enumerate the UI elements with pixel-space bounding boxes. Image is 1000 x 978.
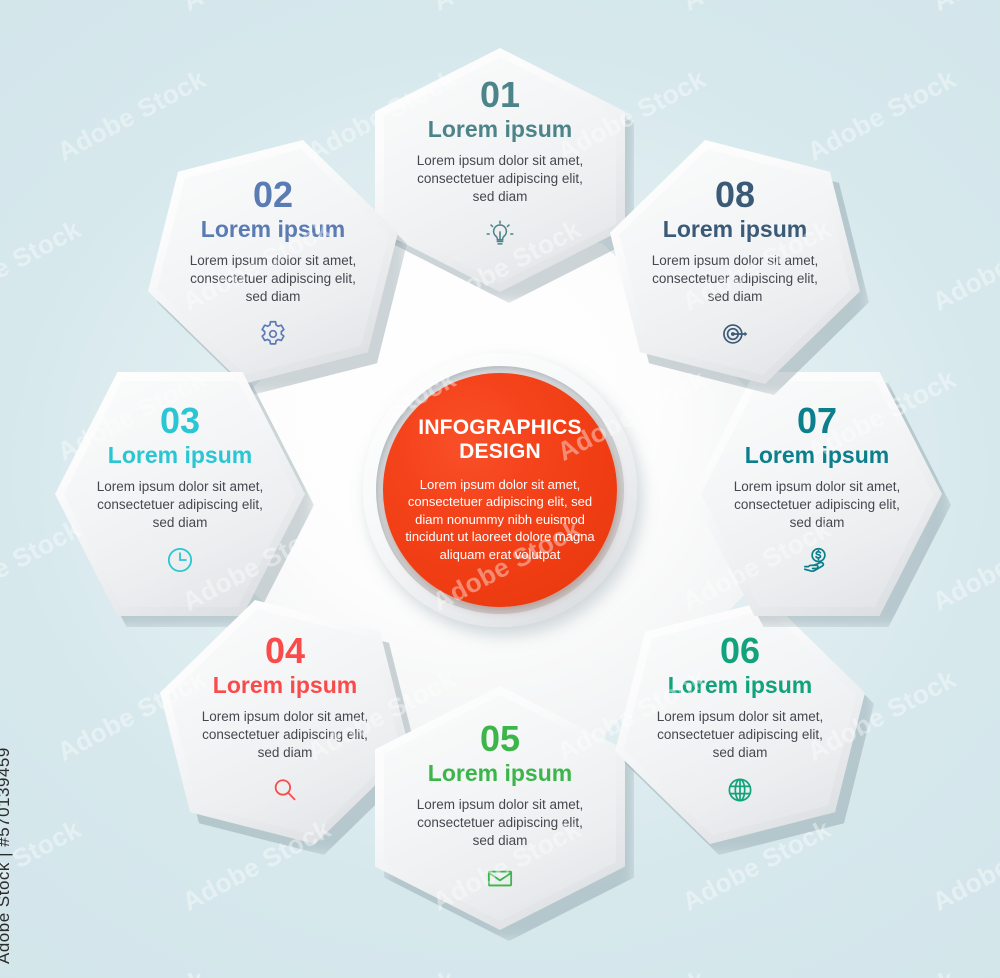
step-title: Lorem ipsum — [663, 217, 807, 242]
watermark-text: Adobe Stock — [0, 0, 86, 18]
step-card-01[interactable]: 01 Lorem ipsum Lorem ipsum dolor sit ame… — [375, 48, 625, 292]
hub-title: INFOGRAPHICS DESIGN — [418, 416, 581, 463]
step-number: 07 — [797, 403, 837, 439]
watermark-text: Adobe Stock — [52, 963, 211, 978]
step-card-02[interactable]: 02 Lorem ipsum Lorem ipsum dolor sit ame… — [148, 140, 398, 384]
watermark-text: Adobe Stock — [677, 0, 836, 18]
step-card-07[interactable]: 07 Lorem ipsum Lorem ipsum dolor sit ame… — [692, 372, 942, 616]
step-body: Lorem ipsum dolor sit amet, consectetuer… — [724, 478, 910, 531]
hub-disc: INFOGRAPHICS DESIGN Lorem ipsum dolor si… — [383, 373, 617, 607]
step-body: Lorem ipsum dolor sit amet, consectetuer… — [180, 252, 366, 305]
step-number: 01 — [480, 77, 520, 113]
step-title: Lorem ipsum — [201, 217, 345, 242]
watermark-text: Adobe Stock — [427, 0, 586, 18]
step-body: Lorem ipsum dolor sit amet, consectetuer… — [407, 152, 593, 205]
watermark-text: Adobe Stock — [927, 213, 1000, 317]
magnifier-icon — [268, 773, 302, 807]
step-card-06[interactable]: 06 Lorem ipsum Lorem ipsum dolor sit ame… — [615, 600, 865, 844]
step-title: Lorem ipsum — [745, 443, 889, 468]
stock-credit-label: Adobe Stock | #570139459 — [0, 747, 14, 964]
globe-icon — [723, 773, 757, 807]
step-title: Lorem ipsum — [428, 117, 572, 142]
step-number: 06 — [720, 633, 760, 669]
infographic-canvas: Adobe StockAdobe StockAdobe StockAdobe S… — [0, 0, 1000, 978]
hub-title-line1: INFOGRAPHICS — [418, 416, 581, 439]
watermark-text: Adobe Stock — [0, 213, 86, 317]
envelope-icon — [483, 861, 517, 895]
card-face: 02 Lorem ipsum Lorem ipsum dolor sit ame… — [157, 149, 389, 375]
step-title: Lorem ipsum — [428, 761, 572, 786]
watermark-text: Adobe Stock — [552, 963, 711, 978]
step-number: 03 — [160, 403, 200, 439]
watermark-text: Adobe Stock — [927, 0, 1000, 18]
clock-icon — [163, 543, 197, 577]
step-body: Lorem ipsum dolor sit amet, consectetuer… — [407, 796, 593, 849]
lightbulb-icon — [483, 217, 517, 251]
step-body: Lorem ipsum dolor sit amet, consectetuer… — [192, 708, 378, 761]
step-number: 02 — [253, 177, 293, 213]
step-title: Lorem ipsum — [668, 673, 812, 698]
step-body: Lorem ipsum dolor sit amet, consectetuer… — [642, 252, 828, 305]
step-card-08[interactable]: 08 Lorem ipsum Lorem ipsum dolor sit ame… — [610, 140, 860, 384]
step-number: 08 — [715, 177, 755, 213]
watermark-text: Adobe Stock — [302, 963, 461, 978]
step-title: Lorem ipsum — [108, 443, 252, 468]
step-card-05[interactable]: 05 Lorem ipsum Lorem ipsum dolor sit ame… — [375, 686, 625, 930]
watermark-text: Adobe Stock — [177, 0, 336, 18]
step-body: Lorem ipsum dolor sit amet, consectetuer… — [647, 708, 833, 761]
hand-dollar-icon — [800, 543, 834, 577]
hub-body: Lorem ipsum dolor sit amet, consectetuer… — [400, 476, 600, 564]
target-icon — [718, 317, 752, 351]
step-card-04[interactable]: 04 Lorem ipsum Lorem ipsum dolor sit ame… — [160, 600, 410, 844]
gear-icon — [256, 317, 290, 351]
watermark-text: Adobe Stock — [927, 813, 1000, 917]
step-title: Lorem ipsum — [213, 673, 357, 698]
step-number: 04 — [265, 633, 305, 669]
watermark-text: Adobe Stock — [802, 963, 961, 978]
step-card-03[interactable]: 03 Lorem ipsum Lorem ipsum dolor sit ame… — [55, 372, 305, 616]
step-number: 05 — [480, 721, 520, 757]
hub-title-line2: DESIGN — [459, 440, 541, 463]
card-face: 06 Lorem ipsum Lorem ipsum dolor sit ame… — [624, 609, 856, 835]
center-hub[interactable]: INFOGRAPHICS DESIGN Lorem ipsum dolor si… — [363, 353, 637, 627]
step-body: Lorem ipsum dolor sit amet, consectetuer… — [87, 478, 273, 531]
